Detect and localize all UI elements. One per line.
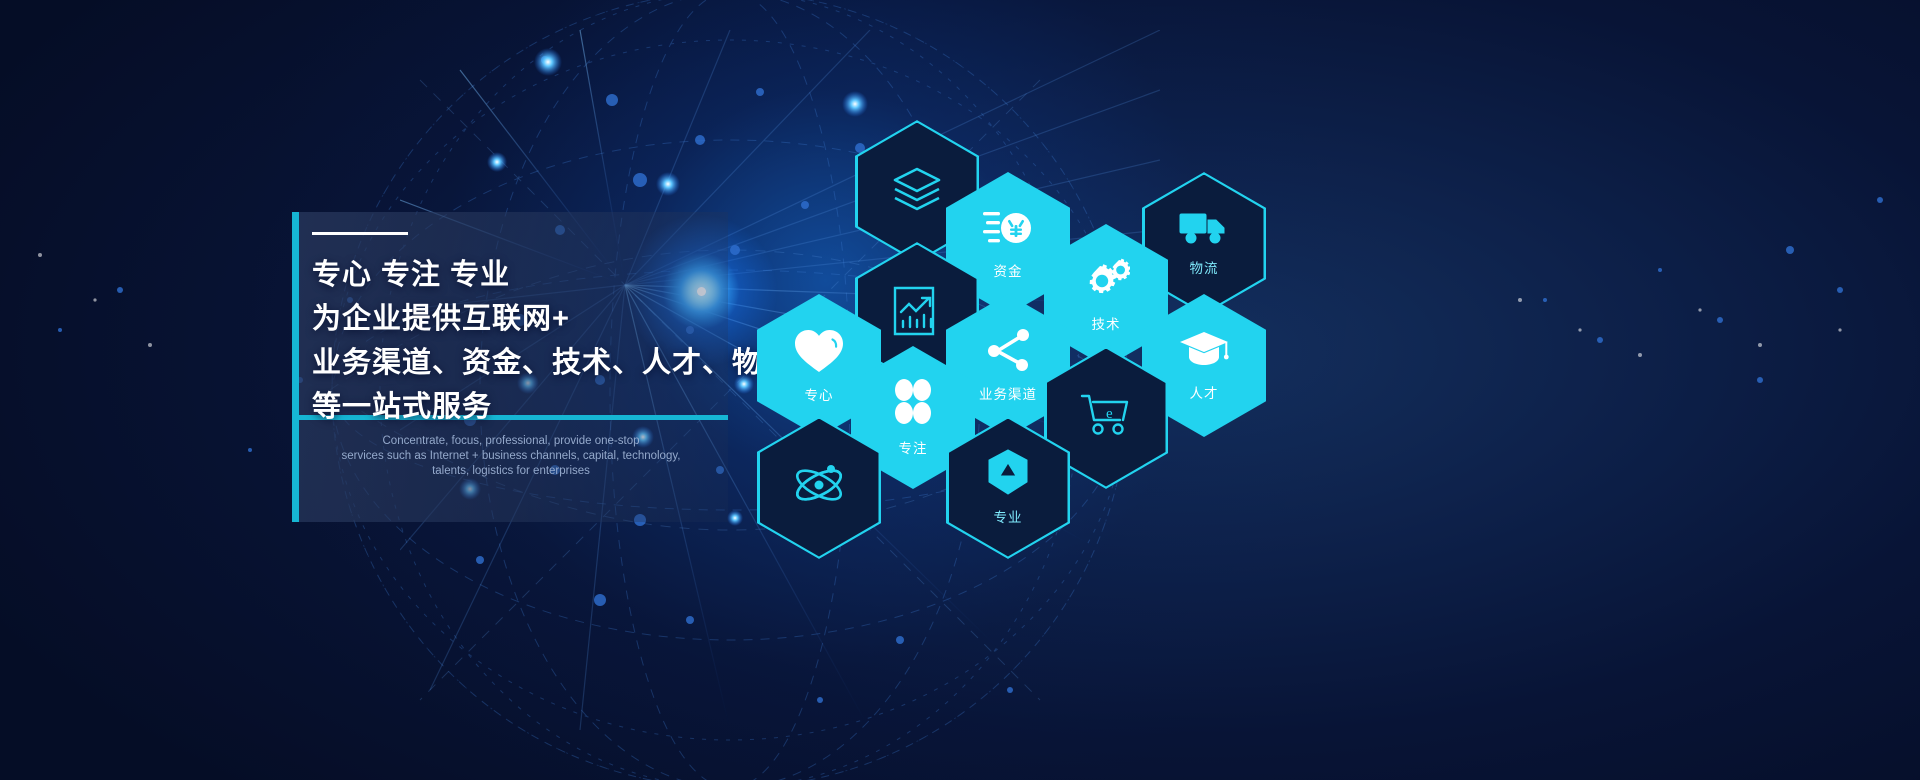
share-nodes-icon (984, 328, 1032, 377)
layers-icon (891, 165, 943, 218)
hex-jishu-label: 技术 (1092, 313, 1121, 333)
money-yen-icon (983, 207, 1033, 254)
hex-zhuanxin-label: 专心 (805, 384, 834, 404)
chart-growth-icon (892, 285, 942, 342)
hex-wuliu-label: 物流 (1190, 257, 1219, 277)
hex-zhuanzhu-label: 专注 (899, 437, 928, 457)
hex-zhuanye-label: 专业 (994, 506, 1023, 526)
banner-stage: 专心 专注 专业 为企业提供互联网+ 业务渠道、资金、技术、人才、物流 等一站式… (0, 0, 1920, 780)
truck-icon (1179, 210, 1229, 251)
hex-zijin-label: 资金 (994, 260, 1023, 280)
svg-text:e: e (1106, 406, 1113, 422)
hex-yewu-label: 业务渠道 (979, 383, 1037, 403)
e-cart-icon: e (1080, 392, 1132, 443)
hex-rencai-label: 人才 (1190, 382, 1219, 402)
gears-icon (1082, 258, 1130, 307)
graduation-cap-icon (1178, 329, 1230, 376)
heart-icon (793, 327, 845, 378)
clover-icon (889, 378, 937, 431)
diamond-icon (988, 449, 1028, 500)
atom-icon (791, 459, 847, 516)
hexagon-cluster: 资金 物流 (0, 0, 1920, 780)
